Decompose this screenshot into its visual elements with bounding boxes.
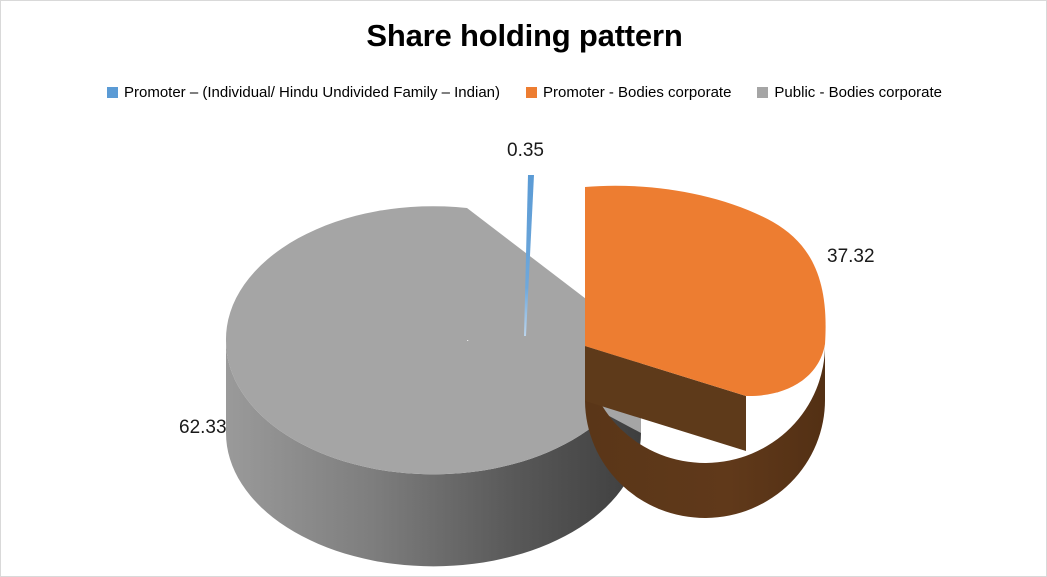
pie-slice-promoter-bodies-corporate[interactable] — [585, 186, 826, 518]
data-label-public-bodies-corporate: 62.33 — [179, 417, 227, 439]
pie-slice-public-bodies-corporate[interactable] — [226, 206, 641, 566]
chart-container: Share holding pattern Promoter – (Indivi… — [0, 0, 1047, 577]
data-label-promoter-bodies-corporate: 37.32 — [827, 246, 875, 268]
pie-chart-plot — [1, 1, 1047, 577]
data-label-promoter-individual: 0.35 — [507, 140, 544, 162]
